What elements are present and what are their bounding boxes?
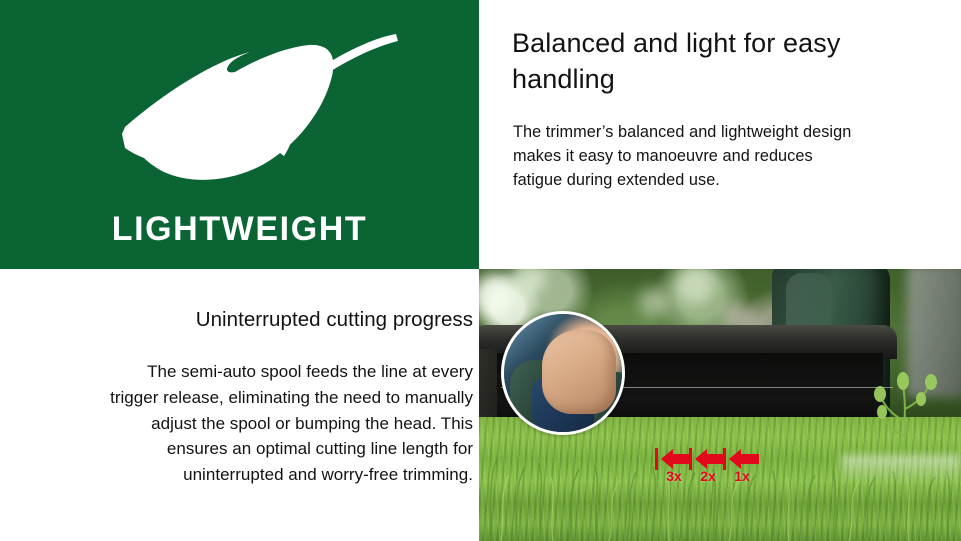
light-band xyxy=(841,455,961,481)
balanced-light-text-panel: Balanced and light for easy handling The… xyxy=(479,0,961,269)
arrow-tick xyxy=(655,448,658,470)
uninterrupted-cutting-body: The semi-auto spool feeds the line at ev… xyxy=(101,359,473,488)
arrow-left-icon xyxy=(729,448,759,470)
inset-photo xyxy=(504,314,622,432)
arrow-label: 2x xyxy=(689,469,727,483)
hand-grip-inset xyxy=(501,311,625,435)
lightweight-caption: LIGHTWEIGHT xyxy=(0,212,479,246)
arrow-left-icon xyxy=(695,448,725,470)
trimmer-photo: 3x 2x 1x xyxy=(479,269,961,541)
arrow-tick xyxy=(723,448,726,470)
lightweight-logo-panel: LIGHTWEIGHT xyxy=(0,0,479,269)
line-feed-arrow-1x: 1x xyxy=(723,447,761,481)
arrow-label: 3x xyxy=(655,469,693,483)
slide-canvas: LIGHTWEIGHT Balanced and light for easy … xyxy=(0,0,961,541)
uninterrupted-cutting-heading: Uninterrupted cutting progress xyxy=(53,307,473,334)
inset-hand xyxy=(542,330,616,414)
line-feed-arrow-2x: 2x xyxy=(689,447,727,481)
uninterrupted-cutting-text-panel: Uninterrupted cutting progress The semi-… xyxy=(0,269,479,541)
arrow-left-icon xyxy=(661,448,691,470)
line-feed-annotation-group: 3x 2x 1x xyxy=(655,447,779,503)
line-feed-arrow-3x: 3x xyxy=(655,447,693,481)
feather-icon xyxy=(78,14,402,204)
foliage-sprig xyxy=(865,365,947,453)
balanced-light-body: The trimmer’s balanced and lightweight d… xyxy=(513,121,858,192)
arrow-tick xyxy=(689,448,692,470)
balanced-light-heading: Balanced and light for easy handling xyxy=(512,26,872,97)
arrow-label: 1x xyxy=(723,469,761,483)
